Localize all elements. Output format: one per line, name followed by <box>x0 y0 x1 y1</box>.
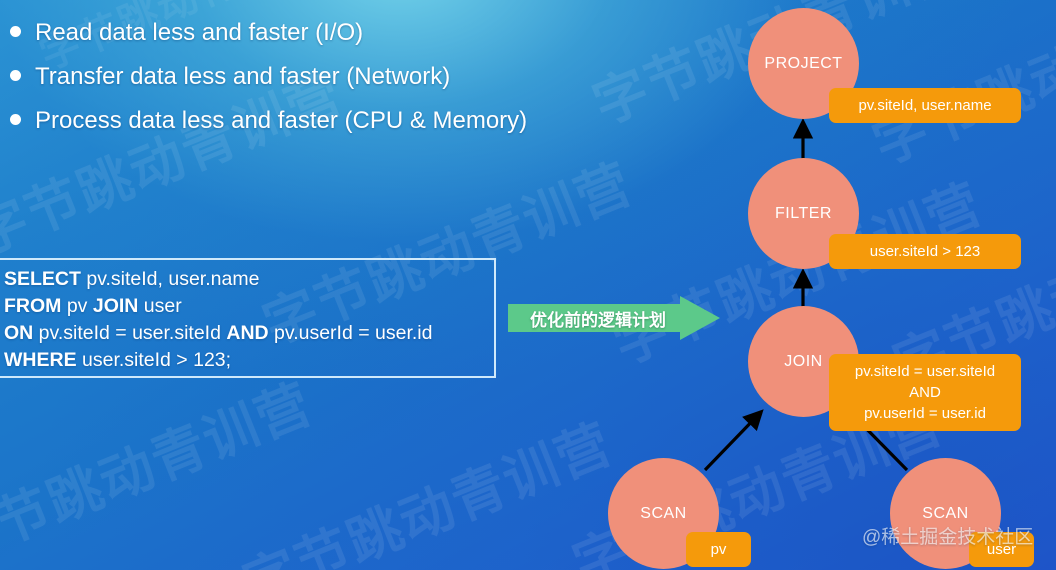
logical-plan-graph: PROJECT FILTER JOIN SCAN SCAN pv.siteId,… <box>0 0 1056 570</box>
slide-canvas: 字节跳动青训营 字节跳动青训营 字节跳动青训营 字节跳动青训营 字节跳动青训营 … <box>0 0 1056 570</box>
plan-badge-filter: user.siteId > 123 <box>829 234 1021 269</box>
edge-scanpv-join <box>705 412 761 470</box>
plan-node-label: JOIN <box>784 353 822 371</box>
plan-node-label: SCAN <box>922 505 968 523</box>
juejin-watermark: @稀土掘金技术社区 <box>862 522 1033 549</box>
plan-badge-join: pv.siteId = user.siteId AND pv.userId = … <box>829 354 1021 431</box>
plan-node-label: PROJECT <box>764 55 842 73</box>
plan-badge-project: pv.siteId, user.name <box>829 88 1021 123</box>
plan-node-label: FILTER <box>775 205 832 223</box>
plan-badge-scan-pv: pv <box>686 532 751 567</box>
plan-node-label: SCAN <box>640 505 686 523</box>
